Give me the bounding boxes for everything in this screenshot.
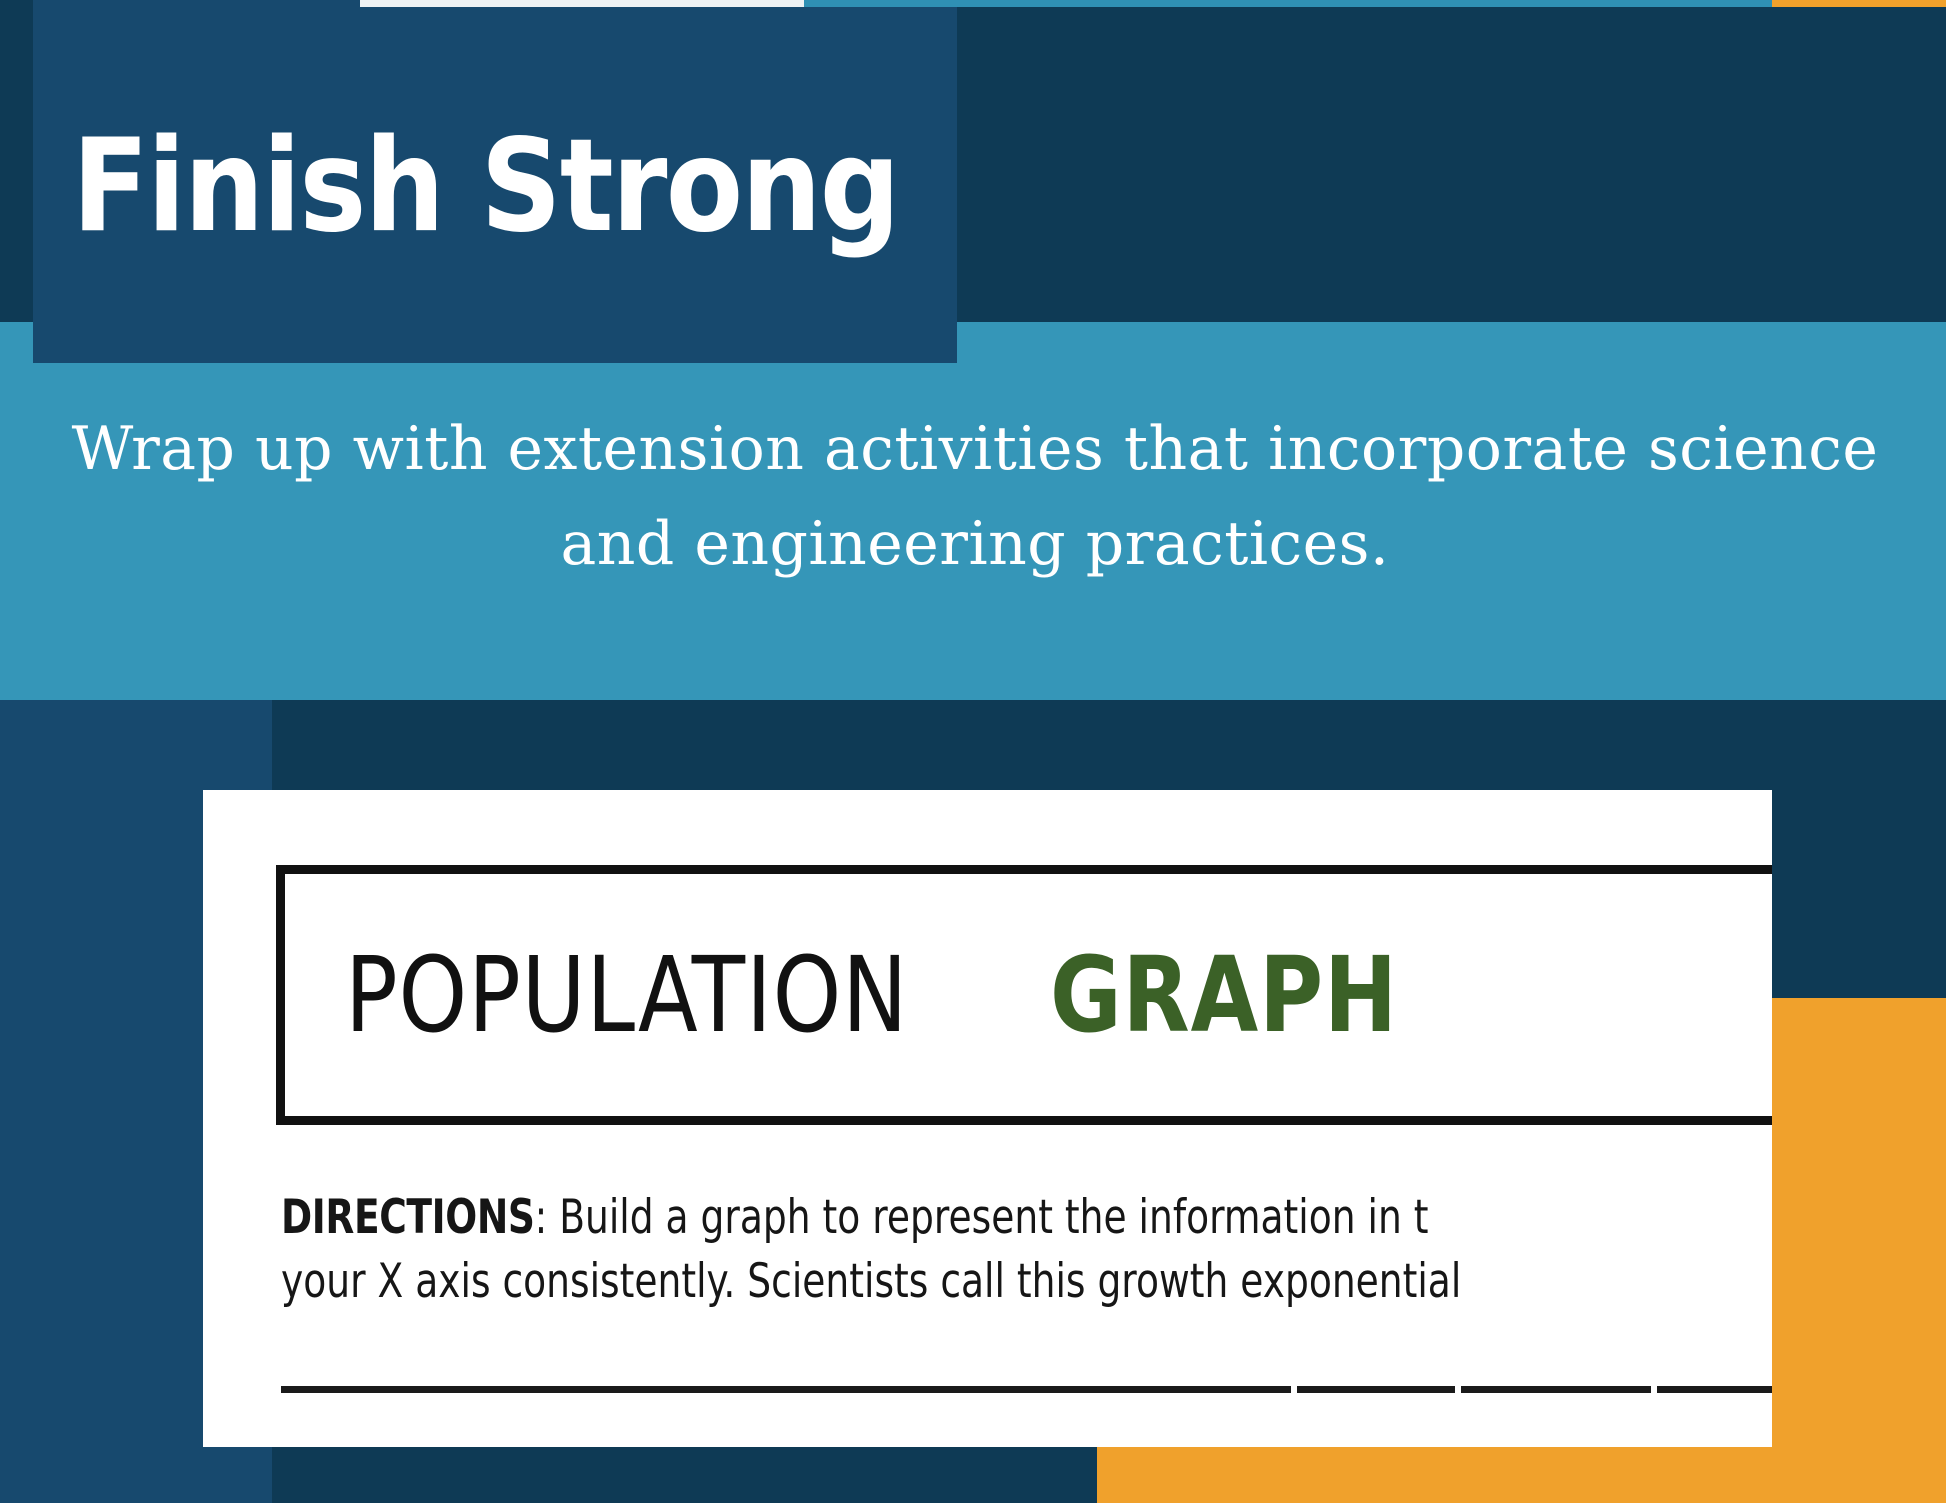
accent-orange-bottom-bar	[1097, 1447, 1946, 1503]
background-lower-navy-bar	[272, 1447, 1097, 1503]
slide-canvas: Finish Strong Wrap up with extension act…	[0, 0, 1946, 1503]
worksheet-directions-line-2: your X axis consistently. Scientists cal…	[281, 1250, 1593, 1314]
worksheet-directions-text: DIRECTIONS: Build a graph to represent t…	[281, 1186, 1593, 1314]
worksheet-directions-line-1-body: : Build a graph to represent the informa…	[535, 1190, 1429, 1245]
slide-title: Finish Strong	[72, 120, 846, 254]
worksheet-answer-line	[1461, 1386, 1651, 1393]
worksheet-heading-population: POPULATION	[345, 943, 908, 1047]
worksheet-answer-lines	[281, 1386, 1772, 1393]
worksheet-heading-graph: GRAPH	[1050, 943, 1398, 1047]
worksheet-image-card: POPULATION GRAPH DIRECTIONS: Build a gra…	[203, 790, 1772, 1447]
accent-rail-orange-segment	[1772, 0, 1946, 7]
worksheet-answer-line	[1657, 1386, 1772, 1393]
worksheet-answer-line	[281, 1386, 1291, 1393]
background-left-strip-top	[0, 0, 33, 322]
worksheet-directions-line-1: DIRECTIONS: Build a graph to represent t…	[281, 1186, 1593, 1250]
accent-rail-teal-segment	[804, 0, 1772, 7]
worksheet-title-box: POPULATION GRAPH	[276, 865, 1772, 1125]
accent-rail-white-segment	[360, 0, 804, 7]
worksheet-directions-label: DIRECTIONS	[281, 1190, 535, 1245]
worksheet-answer-line	[1297, 1386, 1455, 1393]
slide-subtitle: Wrap up with extension activities that i…	[60, 402, 1890, 592]
accent-orange-block	[1772, 998, 1946, 1503]
